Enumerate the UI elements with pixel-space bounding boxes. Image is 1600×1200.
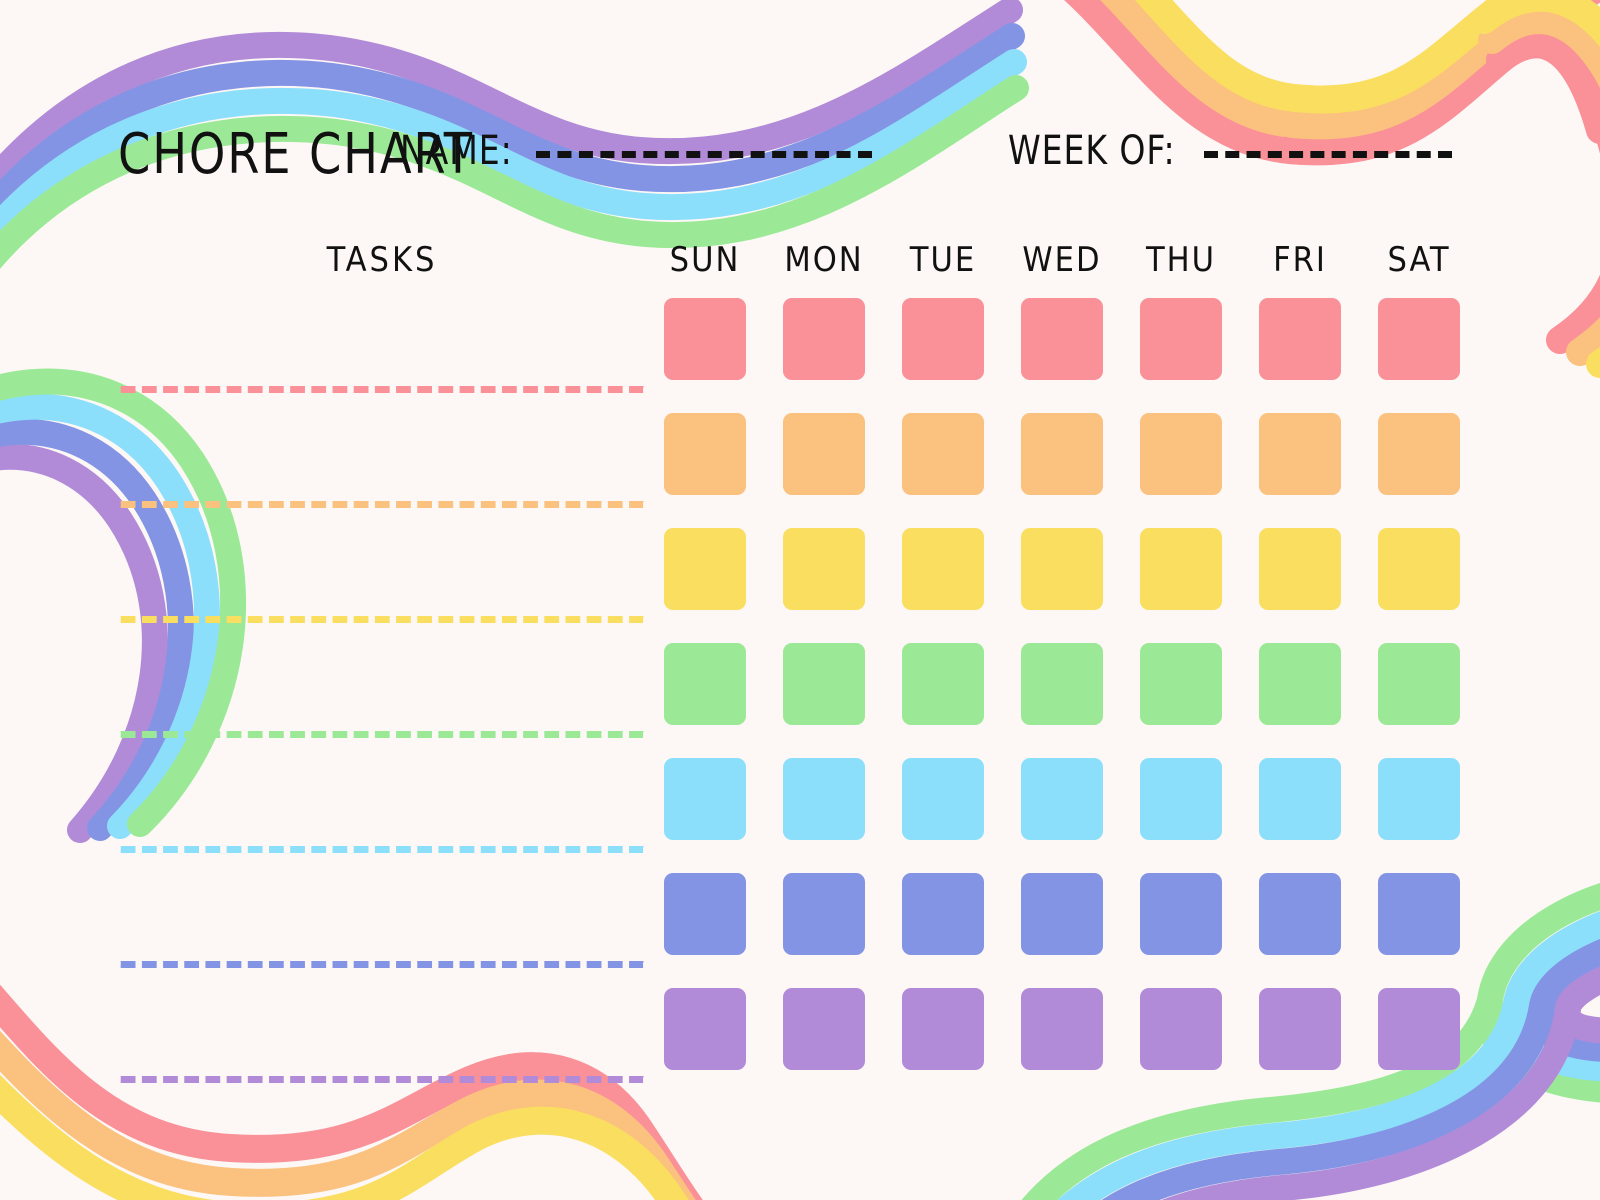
day-checkbox-fri[interactable] — [1259, 758, 1341, 840]
day-header-row: SUNMONTUEWEDTHUFRISAT — [664, 240, 1460, 280]
chore-chart-page: CHORE CHART NAME: WEEK OF: TASKS SUNMONT… — [0, 0, 1600, 1200]
task-input-line[interactable] — [118, 1076, 646, 1083]
chore-row — [0, 298, 1600, 413]
day-header-tue: TUE — [902, 240, 984, 280]
task-input-line[interactable] — [118, 731, 646, 738]
name-field[interactable]: NAME: — [400, 128, 872, 174]
day-checkbox-group — [664, 298, 1460, 380]
day-checkbox-sun[interactable] — [664, 413, 746, 495]
day-checkbox-wed[interactable] — [1021, 643, 1103, 725]
day-checkbox-group — [664, 873, 1460, 955]
day-checkbox-mon[interactable] — [783, 413, 865, 495]
day-checkbox-tue[interactable] — [902, 643, 984, 725]
day-checkbox-fri[interactable] — [1259, 413, 1341, 495]
chore-row — [0, 413, 1600, 528]
name-input-blank[interactable] — [536, 151, 872, 158]
day-header-fri: FRI — [1259, 240, 1341, 280]
week-of-input-blank[interactable] — [1204, 151, 1452, 158]
day-checkbox-sun[interactable] — [664, 528, 746, 610]
day-checkbox-thu[interactable] — [1140, 758, 1222, 840]
day-checkbox-wed[interactable] — [1021, 298, 1103, 380]
day-checkbox-wed[interactable] — [1021, 413, 1103, 495]
day-checkbox-fri[interactable] — [1259, 643, 1341, 725]
day-checkbox-thu[interactable] — [1140, 643, 1222, 725]
day-checkbox-mon[interactable] — [783, 758, 865, 840]
day-checkbox-sun[interactable] — [664, 643, 746, 725]
task-input-line[interactable] — [118, 846, 646, 853]
day-checkbox-tue[interactable] — [902, 988, 984, 1070]
day-checkbox-thu[interactable] — [1140, 988, 1222, 1070]
day-checkbox-group — [664, 528, 1460, 610]
day-checkbox-mon[interactable] — [783, 643, 865, 725]
day-checkbox-sat[interactable] — [1378, 413, 1460, 495]
week-of-label: WEEK OF: — [1008, 128, 1176, 174]
day-checkbox-group — [664, 758, 1460, 840]
chore-row — [0, 988, 1600, 1103]
day-checkbox-thu[interactable] — [1140, 298, 1222, 380]
day-header-mon: MON — [783, 240, 865, 280]
day-header-thu: THU — [1140, 240, 1222, 280]
task-input-line[interactable] — [118, 386, 646, 393]
day-checkbox-mon[interactable] — [783, 988, 865, 1070]
day-checkbox-thu[interactable] — [1140, 413, 1222, 495]
day-header-sun: SUN — [664, 240, 746, 280]
task-input-line[interactable] — [118, 616, 646, 623]
day-checkbox-fri[interactable] — [1259, 988, 1341, 1070]
day-checkbox-group — [664, 413, 1460, 495]
day-checkbox-sat[interactable] — [1378, 758, 1460, 840]
day-checkbox-sat[interactable] — [1378, 643, 1460, 725]
day-checkbox-sat[interactable] — [1378, 988, 1460, 1070]
day-checkbox-mon[interactable] — [783, 873, 865, 955]
day-checkbox-sat[interactable] — [1378, 873, 1460, 955]
day-checkbox-thu[interactable] — [1140, 873, 1222, 955]
day-checkbox-sun[interactable] — [664, 873, 746, 955]
week-of-field[interactable]: WEEK OF: — [1008, 128, 1452, 174]
day-checkbox-sun[interactable] — [664, 758, 746, 840]
day-header-wed: WED — [1021, 240, 1103, 280]
day-checkbox-wed[interactable] — [1021, 758, 1103, 840]
day-checkbox-tue[interactable] — [902, 528, 984, 610]
chore-grid — [0, 298, 1600, 1103]
chore-row — [0, 643, 1600, 758]
day-checkbox-tue[interactable] — [902, 413, 984, 495]
tasks-column-heading: TASKS — [118, 240, 646, 280]
day-checkbox-mon[interactable] — [783, 528, 865, 610]
day-checkbox-group — [664, 643, 1460, 725]
day-header-sat: SAT — [1378, 240, 1460, 280]
day-checkbox-wed[interactable] — [1021, 988, 1103, 1070]
day-checkbox-fri[interactable] — [1259, 298, 1341, 380]
day-checkbox-tue[interactable] — [902, 873, 984, 955]
chore-row — [0, 873, 1600, 988]
day-checkbox-wed[interactable] — [1021, 528, 1103, 610]
day-checkbox-sun[interactable] — [664, 988, 746, 1070]
day-checkbox-fri[interactable] — [1259, 528, 1341, 610]
chore-row — [0, 528, 1600, 643]
task-input-line[interactable] — [118, 501, 646, 508]
day-checkbox-sat[interactable] — [1378, 298, 1460, 380]
task-input-line[interactable] — [118, 961, 646, 968]
name-label: NAME: — [400, 128, 513, 174]
day-checkbox-mon[interactable] — [783, 298, 865, 380]
day-checkbox-fri[interactable] — [1259, 873, 1341, 955]
chore-row — [0, 758, 1600, 873]
day-checkbox-tue[interactable] — [902, 758, 984, 840]
day-checkbox-group — [664, 988, 1460, 1070]
day-checkbox-sun[interactable] — [664, 298, 746, 380]
day-checkbox-tue[interactable] — [902, 298, 984, 380]
day-checkbox-wed[interactable] — [1021, 873, 1103, 955]
day-checkbox-sat[interactable] — [1378, 528, 1460, 610]
day-checkbox-thu[interactable] — [1140, 528, 1222, 610]
